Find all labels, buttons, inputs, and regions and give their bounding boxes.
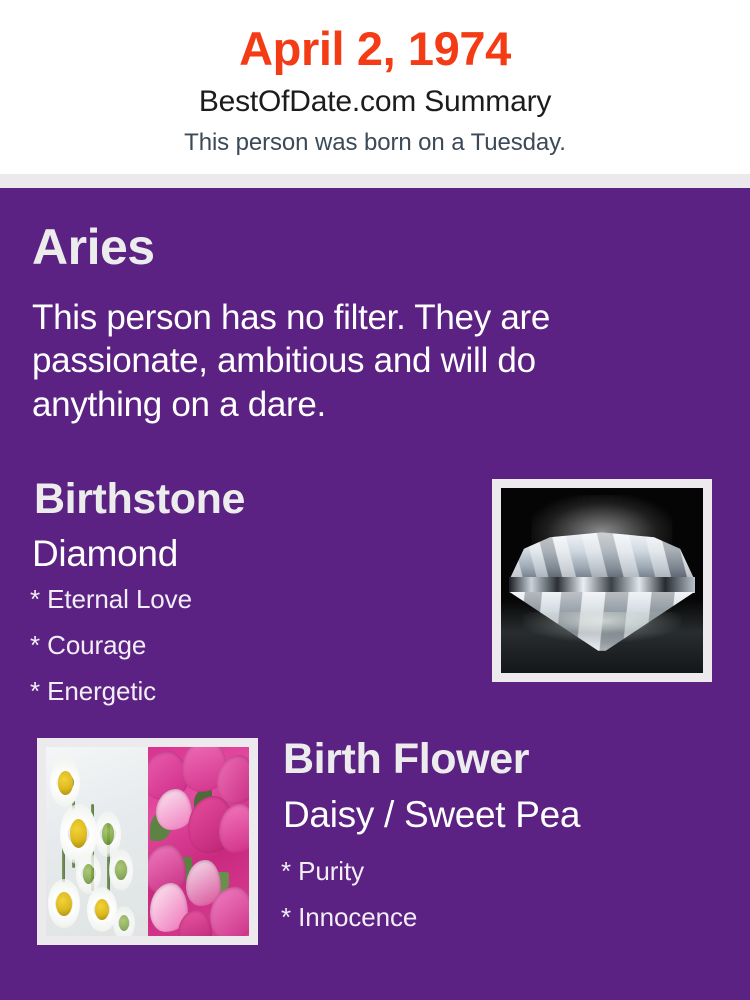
birthstone-name: Diamond	[32, 535, 178, 572]
zodiac-sign-title: Aries	[32, 222, 155, 272]
birth-flower-name: Daisy / Sweet Pea	[283, 796, 580, 833]
birthstone-trait: * Eternal Love	[30, 586, 460, 612]
flower-photo-inner	[46, 747, 249, 936]
daisy-center	[83, 864, 95, 884]
daisy-sweetpea-photo	[37, 738, 258, 945]
daisy-center	[56, 892, 72, 916]
birth-flower-heading: Birth Flower	[283, 738, 529, 781]
diamond-photo-inner	[501, 488, 703, 673]
birthstone-trait: * Energetic	[30, 678, 460, 704]
daisy-bud	[109, 849, 133, 891]
born-day-note: This person was born on a Tuesday.	[0, 131, 750, 155]
sweetpea-panel	[148, 747, 250, 936]
birthstone-heading: Birthstone	[34, 478, 245, 521]
daisy-flower	[50, 758, 80, 807]
daisy-flower	[48, 879, 80, 928]
daisy-center	[102, 823, 115, 845]
daisy-center	[58, 771, 73, 795]
zodiac-description: This person has no filter. They are pass…	[32, 296, 646, 426]
daisy-bud	[113, 906, 135, 936]
page-header: April 2, 1974 BestOfDate.com Summary Thi…	[0, 0, 750, 174]
daisy-center	[115, 860, 127, 880]
sweetpea-bloom	[156, 789, 193, 831]
birthstone-trait-list: * Eternal Love * Courage * Energetic	[30, 586, 460, 724]
diamond-photo	[492, 479, 712, 682]
summary-page: April 2, 1974 BestOfDate.com Summary Thi…	[0, 0, 750, 1000]
birth-flower-trait: * Innocence	[281, 904, 721, 930]
birth-flower-trait-list: * Purity * Innocence	[281, 858, 721, 950]
daisy-panel	[46, 747, 148, 936]
page-title-date: April 2, 1974	[0, 25, 750, 72]
birthstone-trait: * Courage	[30, 632, 460, 658]
birth-flower-trait: * Purity	[281, 858, 721, 884]
header-divider	[0, 174, 750, 188]
diamond-sparkle	[523, 612, 681, 642]
site-summary-label: BestOfDate.com Summary	[0, 87, 750, 117]
diamond-girdle	[509, 577, 695, 594]
